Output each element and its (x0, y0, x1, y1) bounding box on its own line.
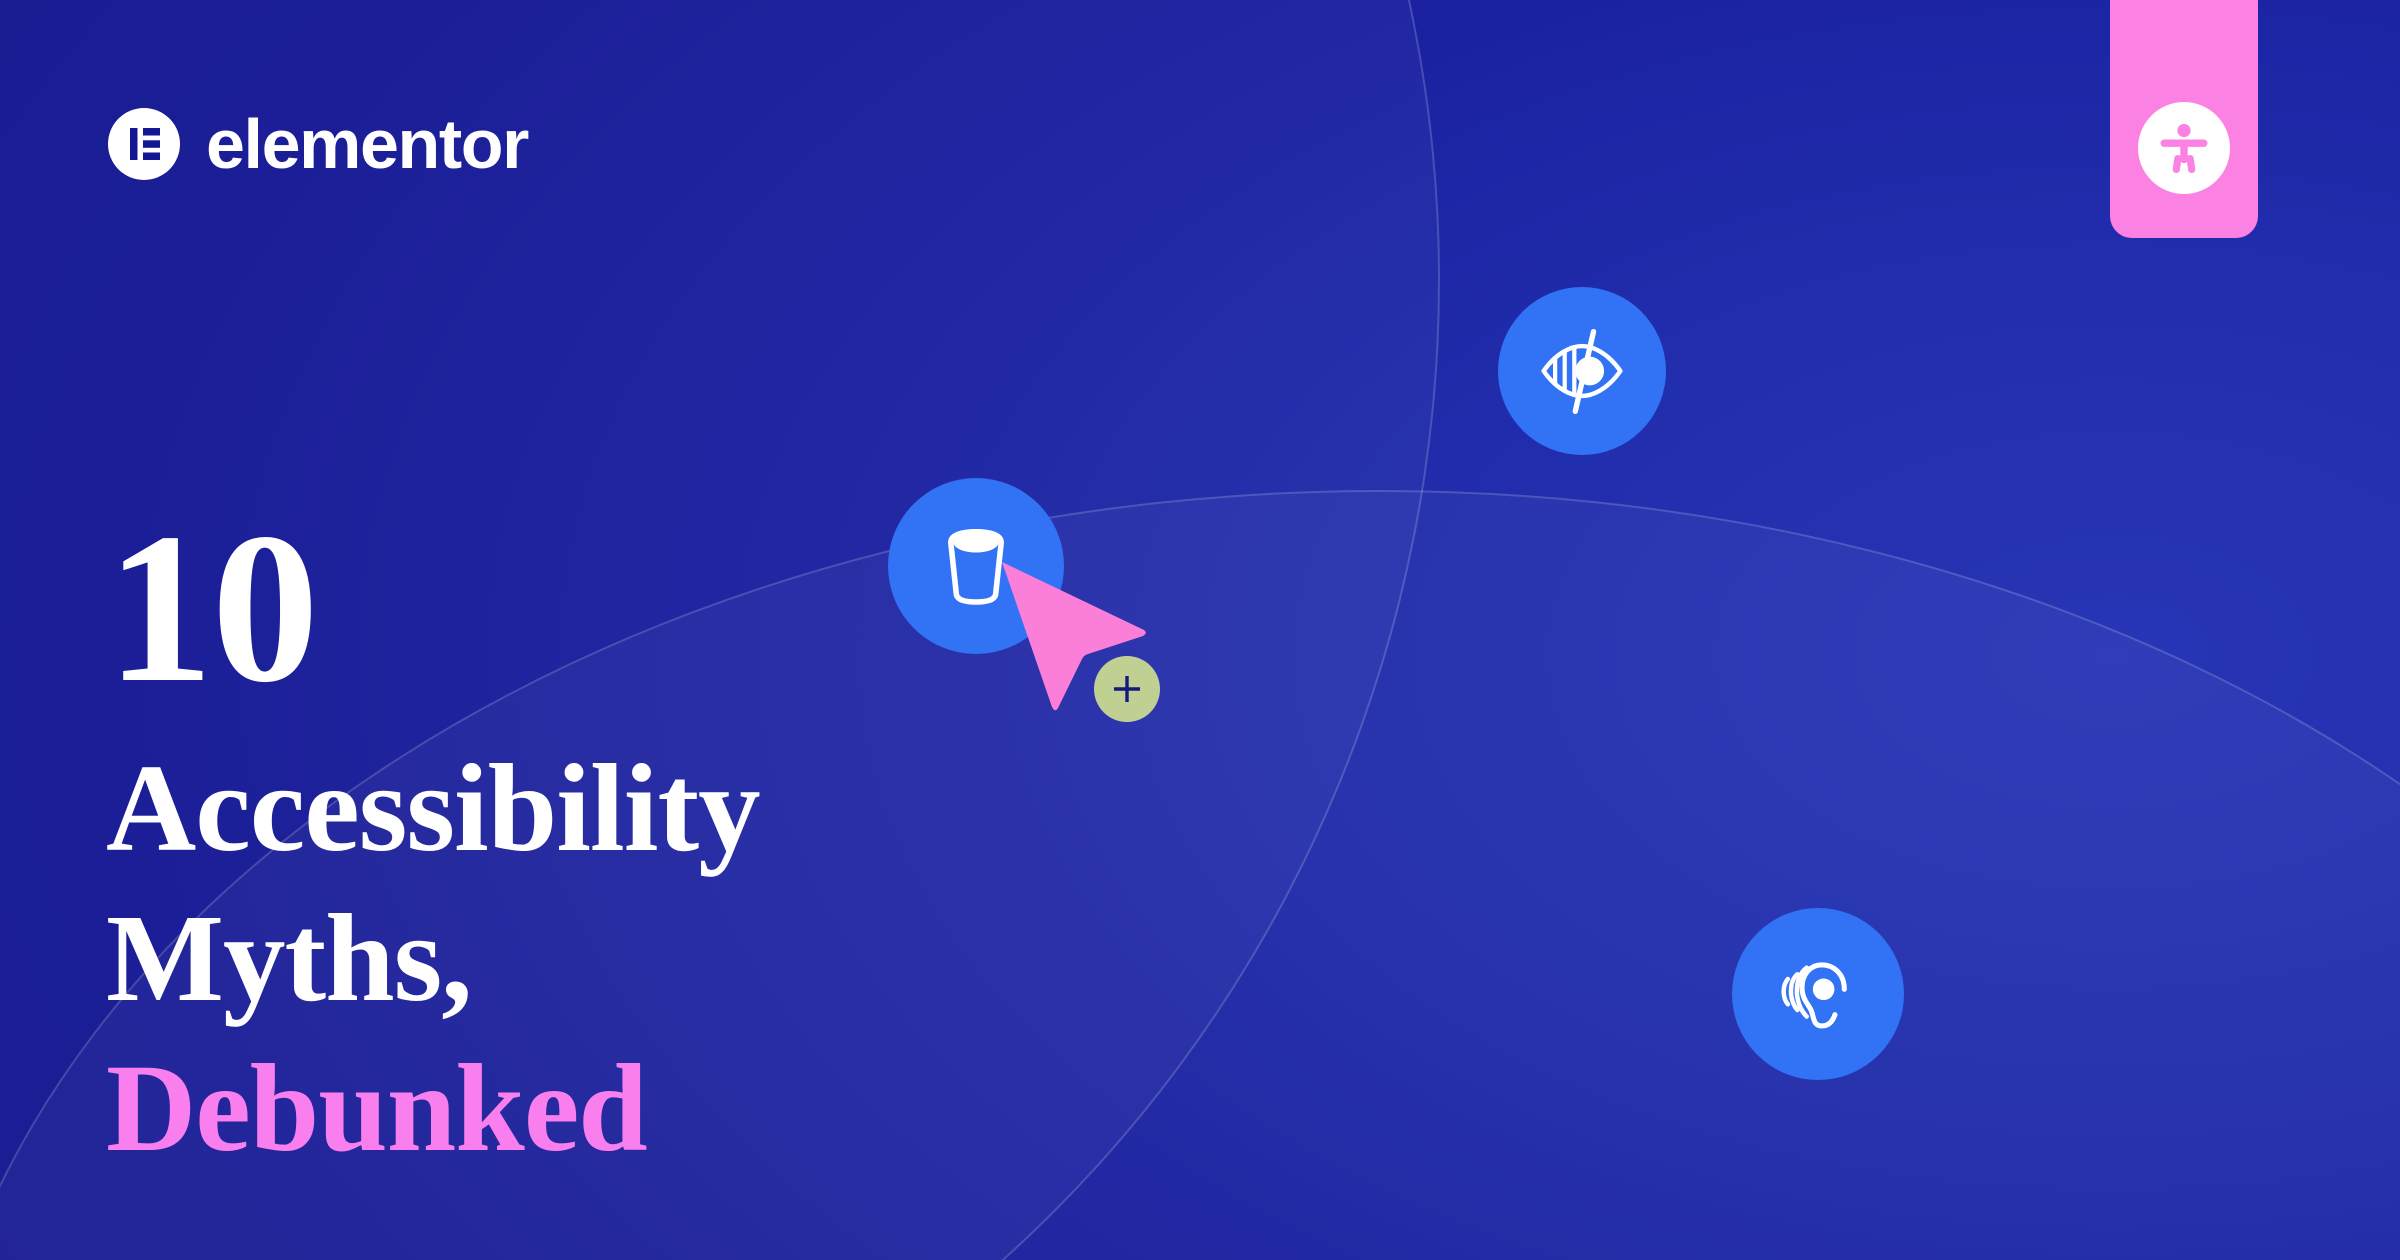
headline-line-debunked: Debunked (106, 1034, 760, 1184)
banner-canvas: elementor 10 Accessibility Myths, Debunk… (0, 0, 2400, 1260)
low-vision-eye-icon[interactable] (1498, 287, 1666, 455)
elementor-logo-icon (108, 108, 180, 180)
elementor-logo-lockup[interactable]: elementor (108, 108, 528, 180)
headline-line-myths: Myths, (106, 884, 760, 1034)
headline-number: 10 (106, 520, 760, 696)
headline-line-accessibility: Accessibility (106, 734, 760, 884)
plus-icon[interactable] (1094, 656, 1160, 722)
accessibility-widget-tab[interactable] (2110, 0, 2258, 238)
accessibility-icon-badge (2138, 102, 2230, 194)
paint-bucket-icon[interactable] (888, 478, 1064, 654)
accessibility-person-icon (2152, 116, 2216, 180)
elementor-wordmark: elementor (206, 109, 528, 179)
headline-lines: Accessibility Myths, Debunked (106, 734, 760, 1184)
headline-block: 10 Accessibility Myths, Debunked (106, 520, 760, 1184)
hearing-ear-icon[interactable] (1732, 908, 1904, 1080)
